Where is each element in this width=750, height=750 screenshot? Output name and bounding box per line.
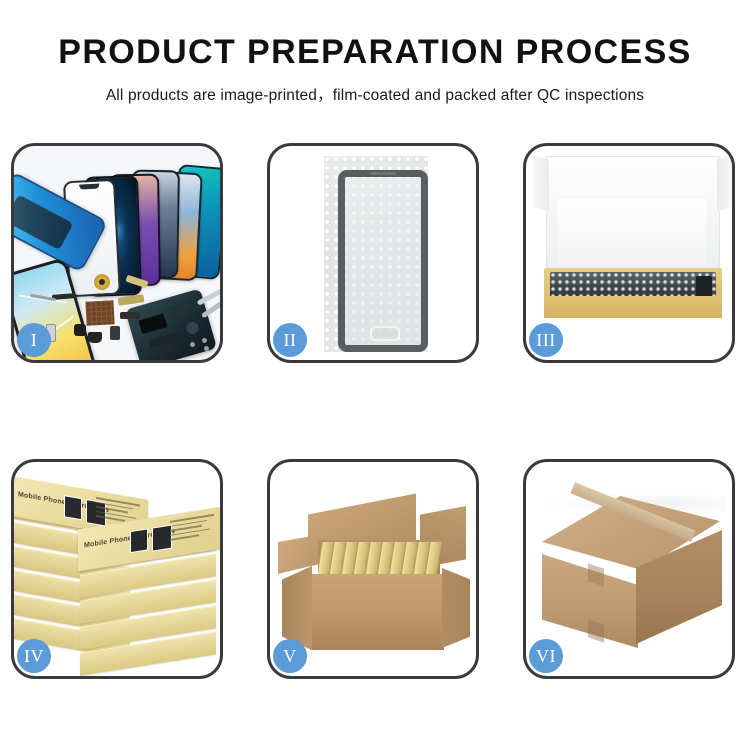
part-coil bbox=[94, 274, 110, 290]
step-badge-3: III bbox=[529, 323, 563, 357]
step-panel-2[interactable]: II bbox=[267, 143, 479, 363]
part-screw-2 bbox=[202, 338, 207, 343]
step-panel-1[interactable]: I bbox=[11, 143, 223, 363]
earpiece-slot bbox=[370, 172, 396, 175]
box-artwork-phone-2 bbox=[152, 525, 172, 552]
step-badge-4: IV bbox=[17, 639, 51, 673]
process-row-2: Mobile Phone Spare Parts Mobile Phone Sp… bbox=[11, 459, 739, 679]
step-badge-5: V bbox=[273, 639, 307, 673]
page-subtitle: All products are image-printed，film-coat… bbox=[0, 83, 750, 105]
part-flex-cable-3 bbox=[120, 312, 140, 319]
process-row-1: I II I bbox=[11, 143, 739, 363]
part-screw-3 bbox=[204, 346, 209, 351]
step-panel-4[interactable]: Mobile Phone Spare Parts Mobile Phone Sp… bbox=[11, 459, 223, 679]
step-badge-2: II bbox=[273, 323, 307, 357]
part-connector-grid bbox=[85, 300, 114, 325]
foam-insert bbox=[558, 198, 706, 266]
part-camera bbox=[74, 324, 86, 336]
step-panel-6[interactable]: VI bbox=[523, 459, 735, 679]
box-artwork-phone-1 bbox=[130, 528, 148, 553]
part-speaker bbox=[88, 332, 102, 343]
step-panel-5[interactable]: V bbox=[267, 459, 479, 679]
step-panel-3[interactable]: III bbox=[523, 143, 735, 363]
step-badge-6: VI bbox=[529, 639, 563, 673]
bubble-wrap bbox=[324, 156, 428, 352]
home-button bbox=[370, 326, 400, 341]
page-header: PRODUCT PREPARATION PROCESS All products… bbox=[0, 0, 750, 105]
page-title: PRODUCT PREPARATION PROCESS bbox=[0, 34, 750, 71]
box-artwork-phone-1 bbox=[64, 495, 82, 520]
step-badge-1: I bbox=[17, 323, 51, 357]
box-front-panel bbox=[544, 296, 722, 318]
phone-screen-assembly bbox=[338, 170, 428, 352]
part-battery bbox=[110, 326, 120, 340]
process-grid: I II I bbox=[11, 143, 739, 679]
part-screw-1 bbox=[190, 342, 195, 347]
box-stack: Mobile Phone Spare Parts Mobile Phone Sp… bbox=[14, 480, 220, 670]
box-spec-lines bbox=[170, 514, 214, 543]
carton-body bbox=[310, 574, 444, 650]
